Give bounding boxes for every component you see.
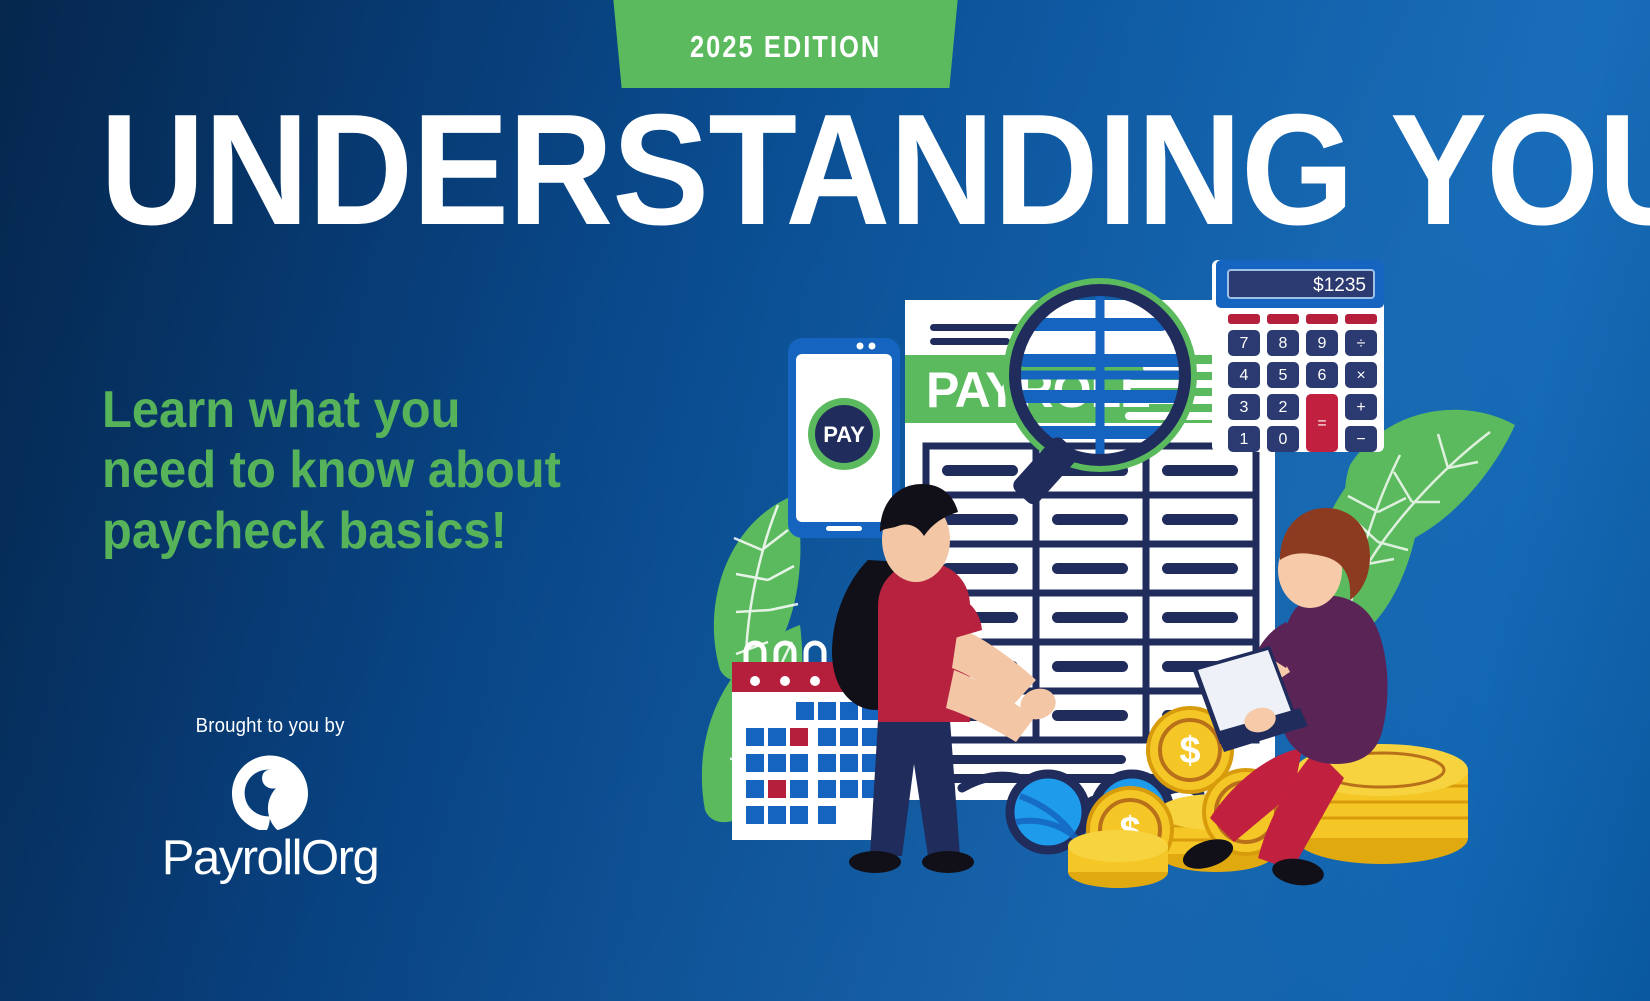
svg-text:9: 9: [1318, 335, 1327, 352]
svg-text:5: 5: [1279, 367, 1288, 384]
brand-block: Brought to you by PayrollOrg: [140, 715, 400, 883]
svg-text:7: 7: [1240, 335, 1249, 352]
svg-text:0: 0: [1279, 431, 1288, 448]
svg-text:1: 1: [1240, 431, 1249, 448]
calculator-display-value: $1235: [1313, 275, 1366, 296]
svg-text:=: =: [1317, 415, 1326, 432]
subheading-line-3: paycheck basics!: [102, 501, 591, 561]
edition-tab: 2025 EDITION: [613, 0, 958, 88]
svg-text:$: $: [1179, 730, 1200, 772]
pay-badge-label: PAY: [823, 422, 865, 447]
cover-banner: 2025 EDITION UNDERSTANDING YOUR PAY Lear…: [0, 0, 1650, 1001]
svg-text:2: 2: [1279, 399, 1288, 416]
smartphone-icon: PAY: [788, 338, 900, 538]
edition-label: 2025 EDITION: [690, 19, 881, 65]
page-title: UNDERSTANDING YOUR PAY: [100, 96, 1452, 245]
svg-text:3: 3: [1240, 399, 1249, 416]
svg-text:÷: ÷: [1357, 335, 1366, 352]
brand-kicker: Brought to you by: [196, 715, 345, 738]
svg-text:6: 6: [1318, 367, 1327, 384]
svg-text:×: ×: [1356, 367, 1365, 384]
svg-text:+: +: [1356, 399, 1365, 416]
svg-text:4: 4: [1240, 367, 1249, 384]
svg-text:8: 8: [1279, 335, 1288, 352]
svg-text:−: −: [1356, 431, 1365, 448]
subheading: Learn what you need to know about payche…: [102, 380, 591, 561]
brand-name: PayrollOrg: [140, 834, 400, 883]
payroll-scene-illustration: PAY PAYROLL: [700, 250, 1600, 950]
crescent-swirl-icon: [232, 754, 308, 830]
subheading-line-2: need to know about: [102, 440, 591, 500]
calculator-icon: $1235 7 8 9 ÷ 4 5: [1212, 260, 1384, 452]
subheading-line-1: Learn what you: [102, 380, 591, 440]
